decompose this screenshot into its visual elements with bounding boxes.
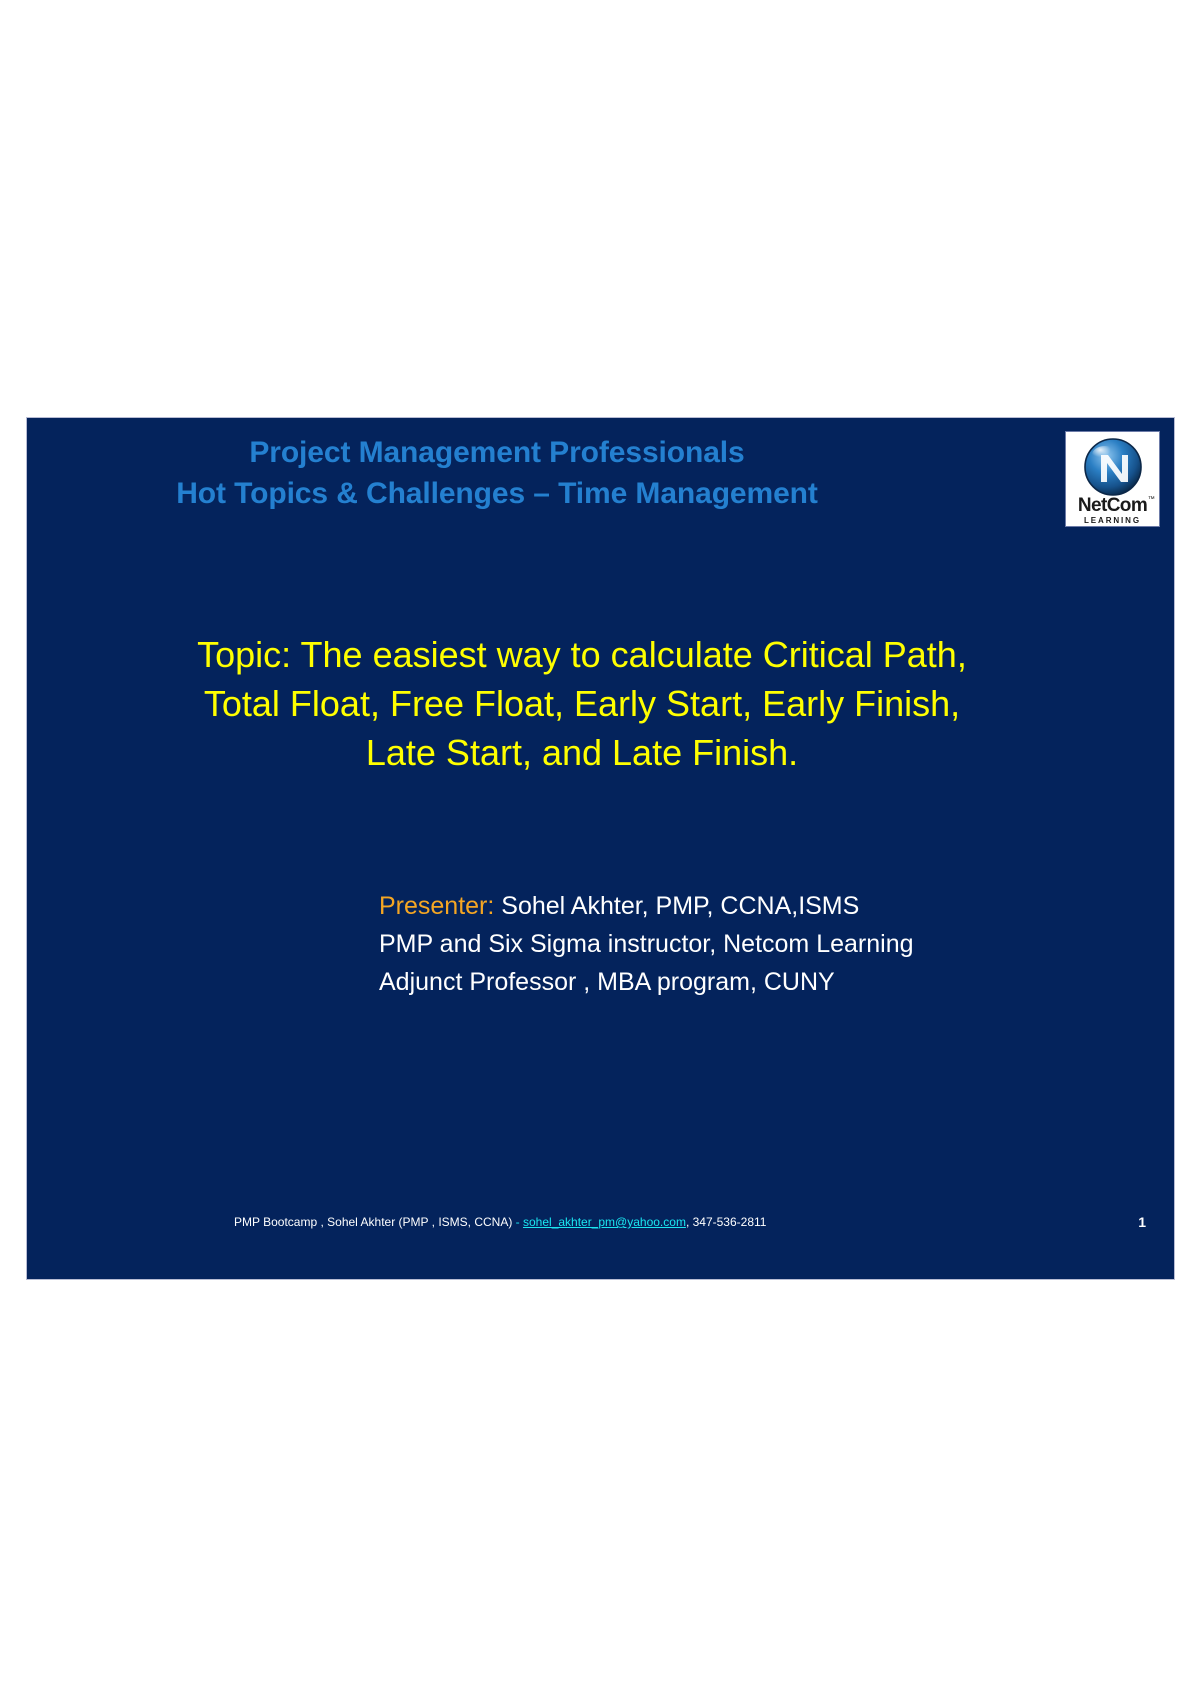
presentation-slide: Project Management Professionals Hot Top… — [26, 417, 1175, 1280]
footer-email-link[interactable]: sohel_akhter_pm@yahoo.com — [523, 1215, 686, 1229]
presenter-line-2: PMP and Six Sigma instructor, Netcom Lea… — [379, 925, 1079, 963]
slide-header: Project Management Professionals Hot Top… — [27, 432, 967, 514]
presenter-name: Sohel Akhter, PMP, CCNA,ISMS — [494, 892, 859, 920]
screenshot-page: Project Management Professionals Hot Top… — [0, 0, 1200, 1696]
footer-prefix: PMP Bootcamp , Sohel Akhter (PMP , ISMS,… — [234, 1215, 516, 1229]
footer-suffix: , 347-536-2811 — [686, 1215, 767, 1229]
slide-topic-title: Topic: The easiest way to calculate Crit… — [82, 630, 1082, 777]
netcom-learning-logo: NetCom ™ LEARNING — [1065, 431, 1160, 527]
netcom-wordmark-text: NetCom — [1078, 495, 1147, 516]
presenter-label: Presenter: — [379, 892, 494, 920]
footer-dash: - — [516, 1215, 523, 1229]
slide-footer: PMP Bootcamp , Sohel Akhter (PMP , ISMS,… — [234, 1214, 766, 1230]
netcom-orb-icon — [1082, 436, 1144, 498]
topic-line-3: Late Start, and Late Finish. — [82, 728, 1082, 777]
netcom-tagline: LEARNING — [1084, 516, 1141, 526]
header-line-2: Hot Topics & Challenges – Time Managemen… — [27, 473, 967, 514]
topic-line-2: Total Float, Free Float, Early Start, Ea… — [82, 679, 1082, 728]
topic-line-1: Topic: The easiest way to calculate Crit… — [82, 630, 1082, 679]
netcom-wordmark: NetCom ™ — [1078, 497, 1147, 515]
presenter-line-1: Presenter: Sohel Akhter, PMP, CCNA,ISMS — [379, 887, 1079, 925]
slide-page-number: 1 — [1138, 1213, 1146, 1231]
trademark-icon: ™ — [1148, 496, 1154, 503]
presenter-block: Presenter: Sohel Akhter, PMP, CCNA,ISMS … — [379, 887, 1079, 1001]
header-line-1: Project Management Professionals — [27, 432, 967, 473]
presenter-line-3: Adjunct Professor , MBA program, CUNY — [379, 963, 1079, 1001]
